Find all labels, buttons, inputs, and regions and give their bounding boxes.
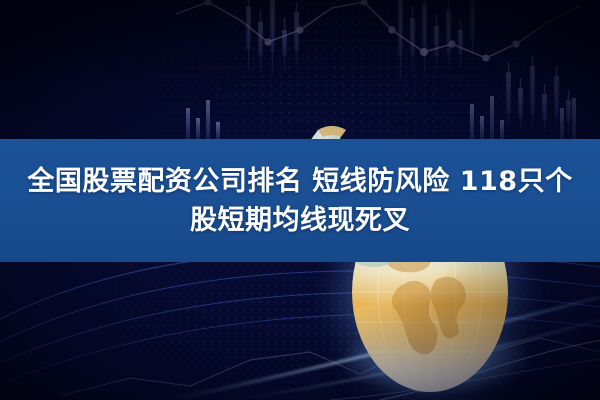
banner-image: $ xyxy=(0,0,600,400)
page-title: 全国股票配资公司排名 短线防风险 118只个股短期均线现死叉 xyxy=(0,139,600,262)
